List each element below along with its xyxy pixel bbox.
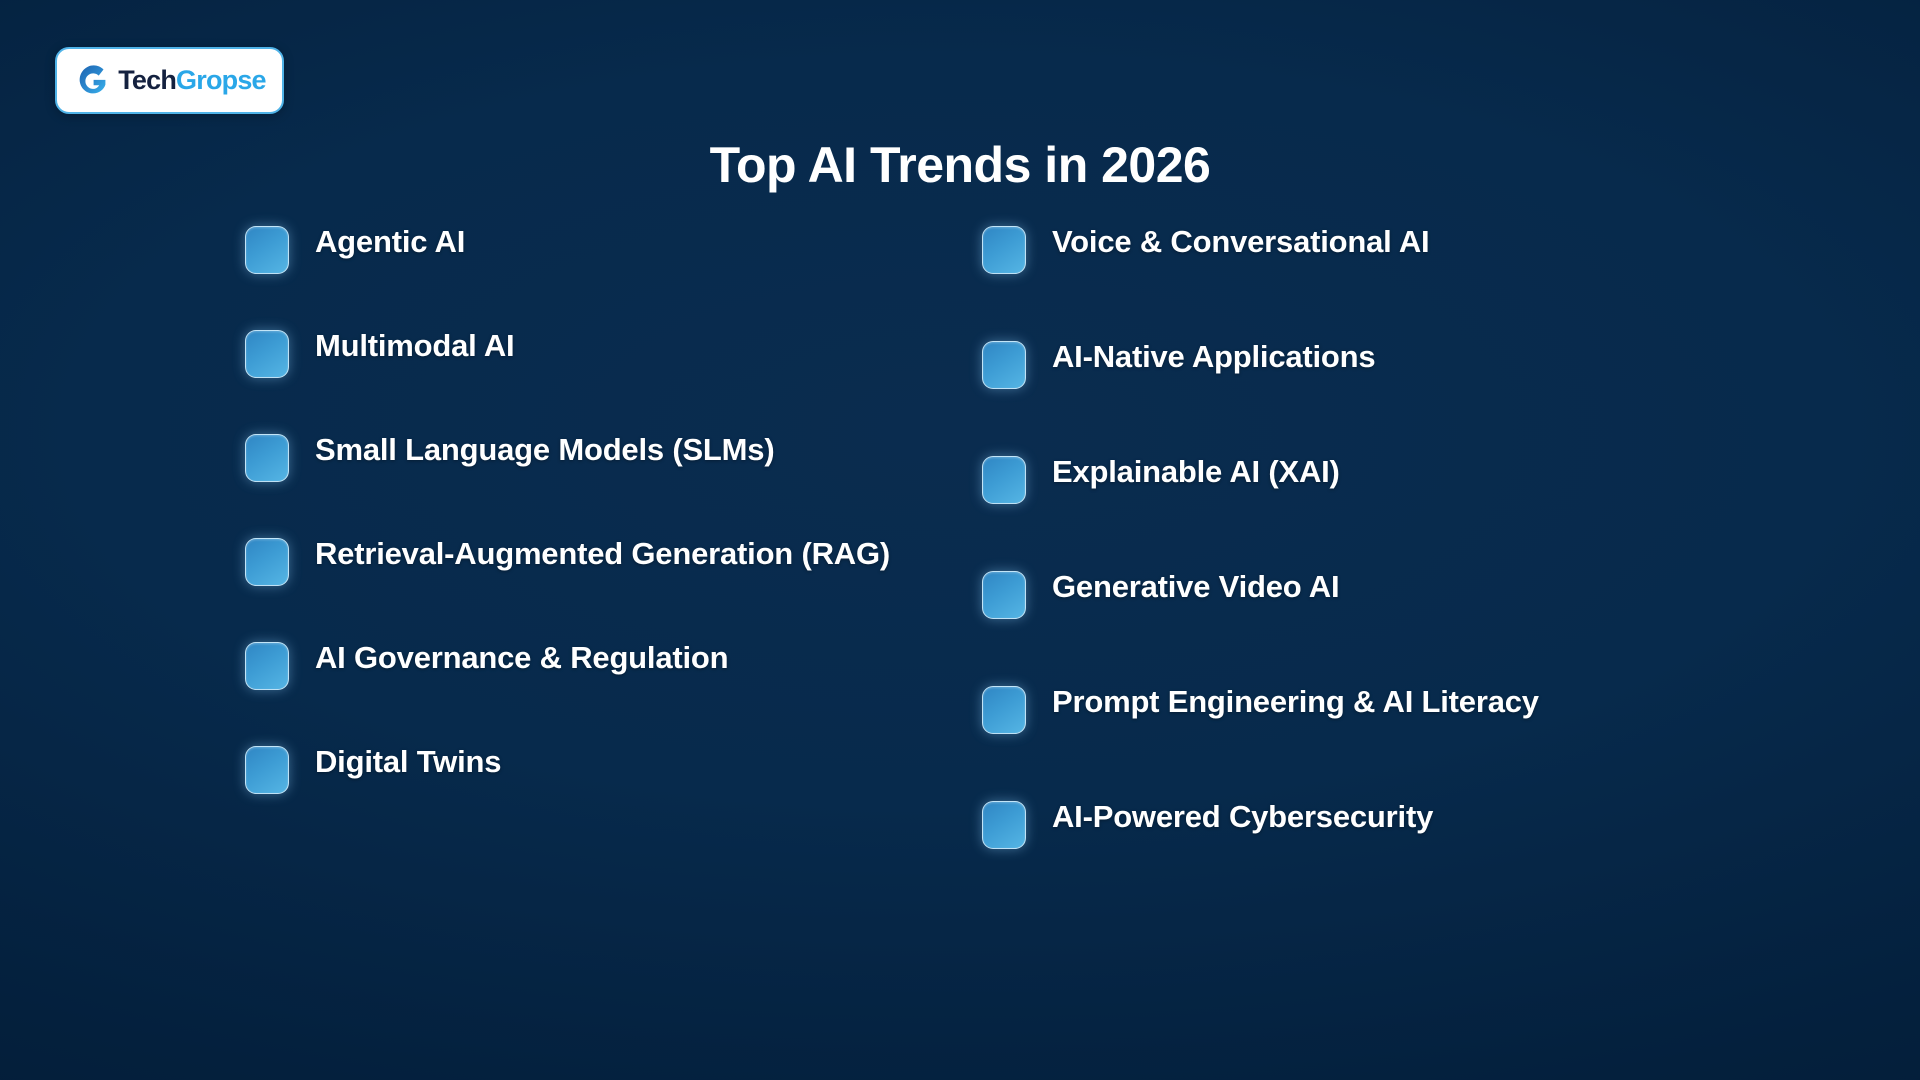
- list-item[interactable]: Digital Twins: [245, 742, 935, 794]
- bullet-square-icon: [245, 434, 289, 482]
- bullet-square-icon: [982, 226, 1026, 274]
- trend-label: AI-Native Applications: [1052, 337, 1375, 377]
- page-title: Top AI Trends in 2026: [0, 138, 1920, 193]
- trend-label: Generative Video AI: [1052, 567, 1339, 607]
- list-item[interactable]: Voice & Conversational AI: [982, 222, 1702, 274]
- list-item[interactable]: Multimodal AI: [245, 326, 935, 378]
- techgropse-g-icon: [73, 62, 111, 100]
- brand-wordmark: TechGropse: [118, 67, 266, 94]
- bullet-square-icon: [245, 642, 289, 690]
- list-item[interactable]: Small Language Models (SLMs): [245, 430, 935, 482]
- brand-wordmark-accent: Gropse: [176, 65, 266, 95]
- bullet-square-icon: [982, 686, 1026, 734]
- list-item[interactable]: AI Governance & Regulation: [245, 638, 935, 690]
- list-item[interactable]: Generative Video AI: [982, 567, 1702, 619]
- bullet-square-icon: [982, 571, 1026, 619]
- bullet-square-icon: [982, 341, 1026, 389]
- bullet-square-icon: [245, 330, 289, 378]
- bullet-square-icon: [982, 801, 1026, 849]
- trend-label: Retrieval-Augmented Generation (RAG): [315, 534, 890, 574]
- trend-label: Digital Twins: [315, 742, 501, 782]
- trend-label: AI Governance & Regulation: [315, 638, 728, 678]
- bullet-square-icon: [245, 746, 289, 794]
- trends-column-right: Voice & Conversational AI AI-Native Appl…: [982, 222, 1702, 912]
- list-item[interactable]: Prompt Engineering & AI Literacy: [982, 682, 1702, 734]
- bullet-square-icon: [245, 538, 289, 586]
- trend-label: Multimodal AI: [315, 326, 514, 366]
- list-item[interactable]: Agentic AI: [245, 222, 935, 274]
- brand-logo[interactable]: TechGropse: [55, 47, 284, 114]
- trend-label: Small Language Models (SLMs): [315, 430, 774, 470]
- trend-label: Prompt Engineering & AI Literacy: [1052, 682, 1539, 722]
- list-item[interactable]: AI-Native Applications: [982, 337, 1702, 389]
- list-item[interactable]: Retrieval-Augmented Generation (RAG): [245, 534, 935, 586]
- trend-label: Explainable AI (XAI): [1052, 452, 1340, 492]
- trend-label: Agentic AI: [315, 222, 465, 262]
- bullet-square-icon: [245, 226, 289, 274]
- list-item[interactable]: Explainable AI (XAI): [982, 452, 1702, 504]
- trend-label: Voice & Conversational AI: [1052, 222, 1429, 262]
- brand-wordmark-primary: Tech: [118, 65, 176, 95]
- infographic-canvas: TechGropse Top AI Trends in 2026 Agentic…: [0, 0, 1920, 1080]
- trend-label: AI-Powered Cybersecurity: [1052, 797, 1433, 837]
- bullet-square-icon: [982, 456, 1026, 504]
- list-item[interactable]: AI-Powered Cybersecurity: [982, 797, 1702, 849]
- trends-column-left: Agentic AI Multimodal AI Small Language …: [245, 222, 935, 846]
